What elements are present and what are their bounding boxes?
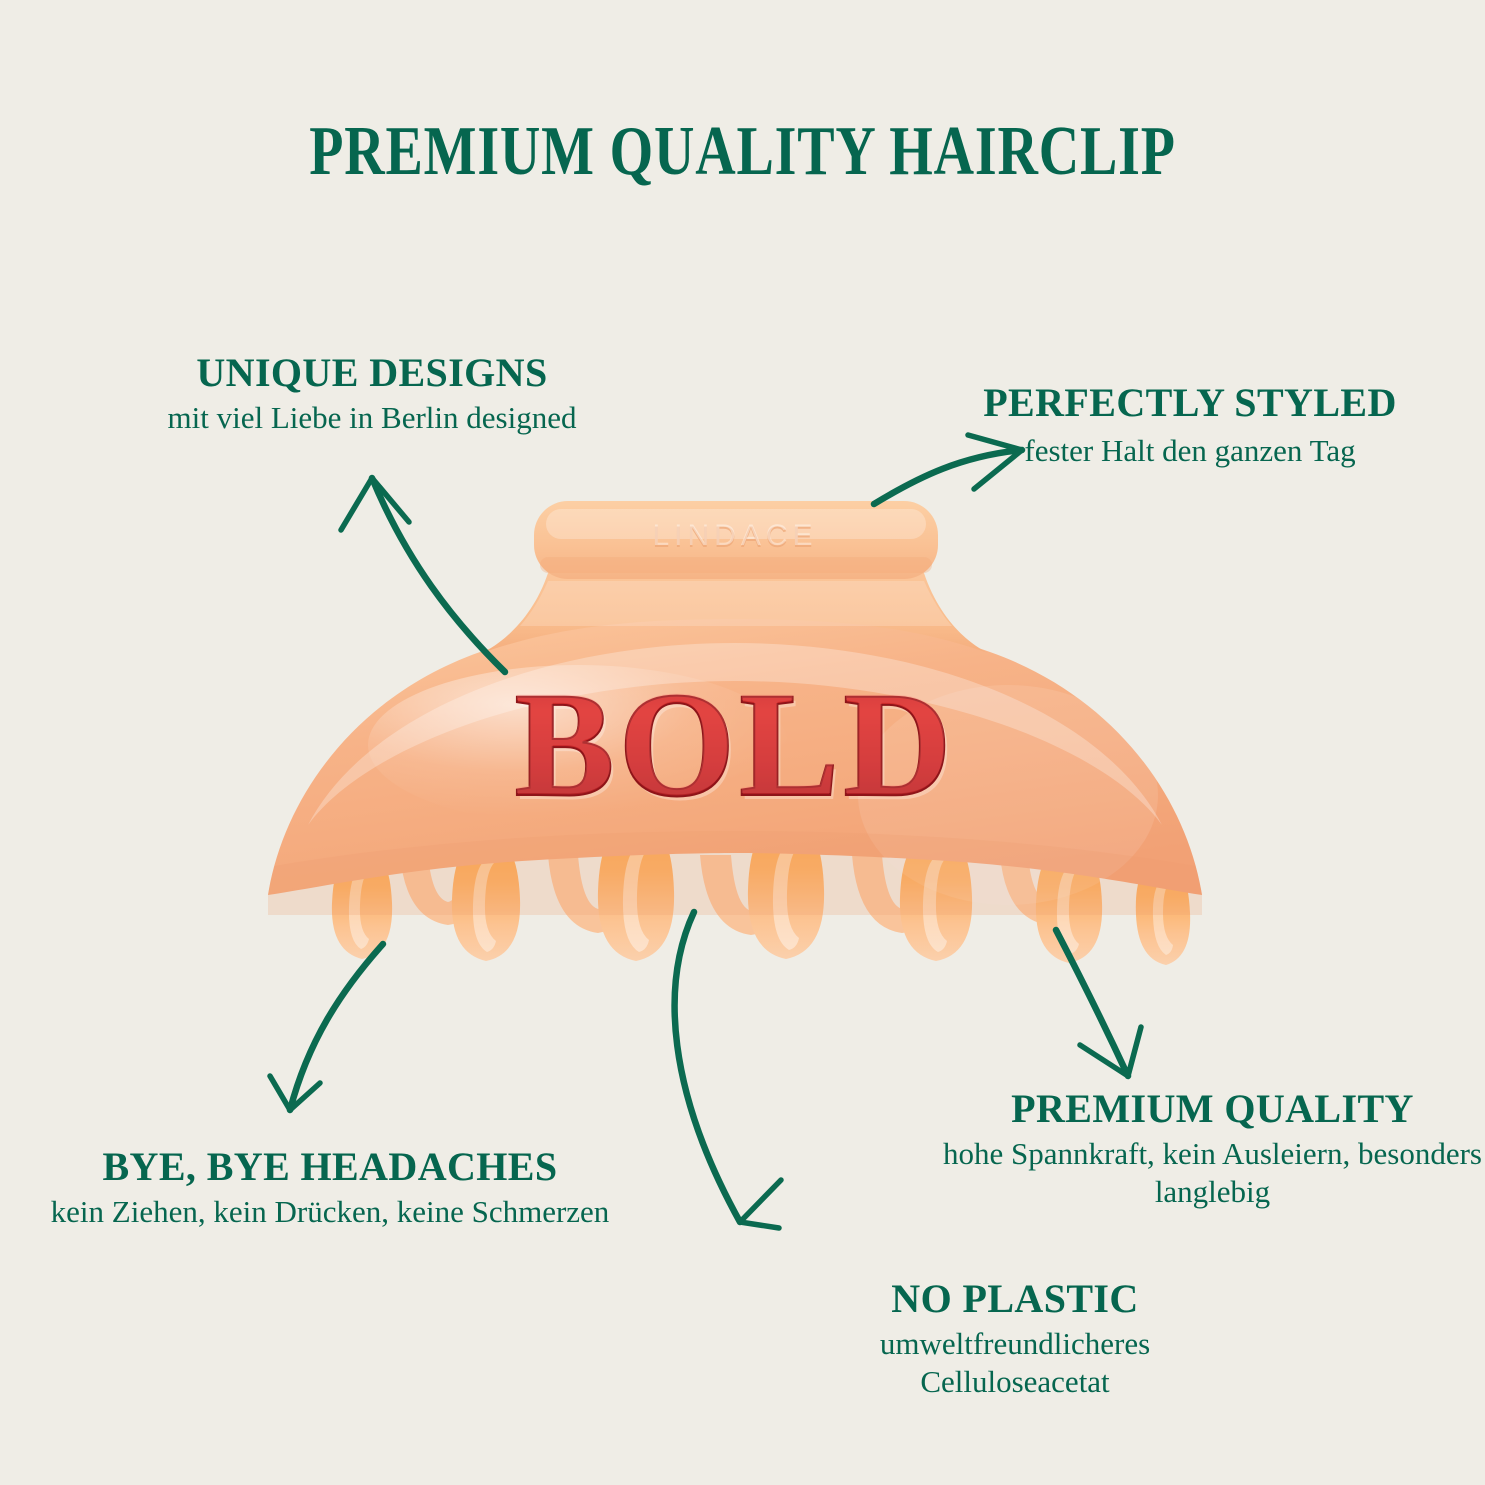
callout-subtext: mit viel Liebe in Berlin designed	[62, 399, 682, 437]
callout-unique-designs: UNIQUE DESIGNS mit viel Liebe in Berlin …	[62, 352, 682, 437]
svg-text:BOLD: BOLD	[514, 660, 955, 826]
callout-subtext: kein Ziehen, kein Drücken, keine Schmerz…	[0, 1193, 660, 1231]
callout-heading: UNIQUE DESIGNS	[62, 352, 682, 394]
product-image-hairclip: LINDACE LINDACE BOLD BOLD BOLD	[248, 495, 1223, 995]
callout-heading: PERFECTLY STYLED	[900, 382, 1480, 424]
callout-heading: PREMIUM QUALITY	[940, 1088, 1485, 1130]
callout-subtext: fester Halt den ganzen Tag	[900, 432, 1480, 470]
callout-heading: NO PLASTIC	[790, 1278, 1240, 1320]
svg-text:LINDACE: LINDACE	[652, 519, 817, 552]
callout-perfectly-styled: PERFECTLY STYLED fester Halt den ganzen …	[900, 382, 1480, 470]
infographic-canvas: PREMIUM QUALITY HAIRCLIP	[0, 0, 1485, 1485]
engraved-word-bold: BOLD BOLD BOLD	[514, 660, 958, 832]
clip-top-bar: LINDACE LINDACE	[534, 501, 938, 579]
callout-heading: BYE, BYE HEADACHES	[0, 1146, 660, 1188]
page-title: PREMIUM QUALITY HAIRCLIP	[149, 112, 1337, 192]
callout-subtext: umweltfreundlicheres Celluloseacetat	[790, 1325, 1240, 1401]
callout-no-plastic: NO PLASTIC umweltfreundlicheres Cellulos…	[790, 1278, 1240, 1401]
callout-subtext: hohe Spannkraft, kein Ausleiern, besonde…	[940, 1135, 1485, 1211]
callout-premium-quality: PREMIUM QUALITY hohe Spannkraft, kein Au…	[940, 1088, 1485, 1211]
callout-bye-bye-headaches: BYE, BYE HEADACHES kein Ziehen, kein Drü…	[0, 1146, 660, 1231]
